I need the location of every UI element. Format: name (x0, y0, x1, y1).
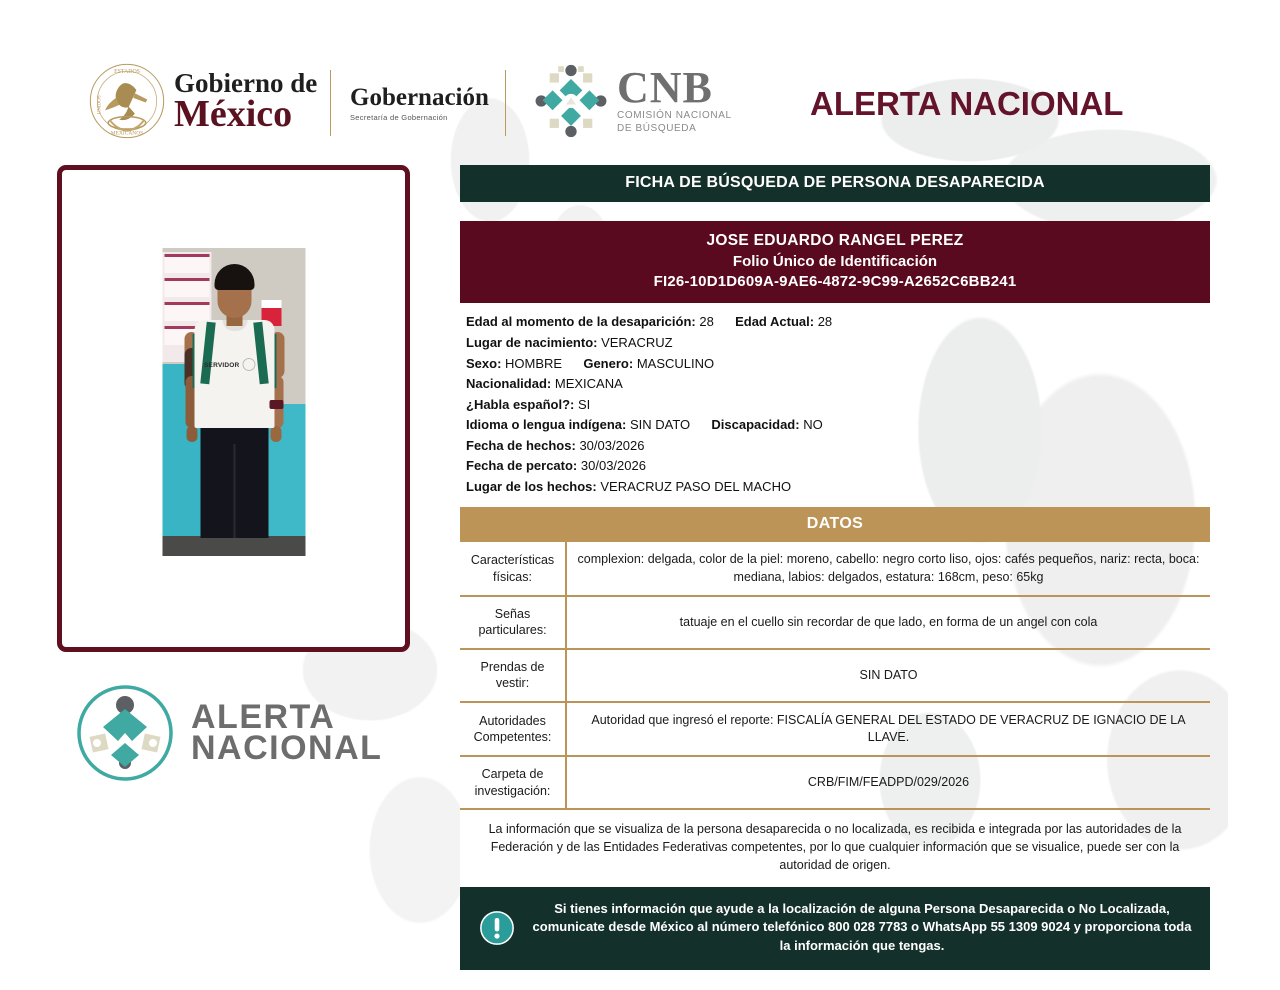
folio-value: FI26-10D1D609A-9AE6-4872-9C99-A2652C6BB2… (460, 272, 1210, 292)
detail-row-habla-espanol: ¿Habla español?: SI (466, 395, 1206, 416)
alerta-nacional-logo: ALERTA NACIONAL (75, 683, 382, 783)
datos-key: Características físicas: (460, 542, 566, 596)
nacionalidad-value: MEXICANA (555, 376, 623, 391)
svg-text:UNIDOS: UNIDOS (96, 95, 102, 114)
svg-text:ESTADOS: ESTADOS (114, 69, 140, 75)
fecha-percato-label: Fecha de percato: (466, 458, 577, 473)
sexo-label: Sexo: (466, 356, 501, 371)
gobernacion-logo: Gobernación Secretaría de Gobernación (350, 84, 489, 122)
edad-desaparicion-value: 28 (699, 314, 713, 329)
page-header: ESTADOS MEXICANOS UNIDOS Gobierno de Méx… (0, 0, 1280, 160)
genero-label: Genero: (583, 356, 633, 371)
table-row: Señas particulares: tatuaje en el cuello… (460, 596, 1210, 649)
disclaimer-text: La información que se visualiza de la pe… (460, 810, 1210, 886)
detail-row-lugar-nacimiento: Lugar de nacimiento: VERACRUZ (466, 333, 1206, 354)
detail-row-nacionalidad: Nacionalidad: MEXICANA (466, 374, 1206, 395)
gobierno-de-mexico-logo: ESTADOS MEXICANOS UNIDOS Gobierno de Méx… (88, 62, 317, 140)
habla-espanol-value: SI (578, 397, 590, 412)
datos-value: complexion: delgada, color de la piel: m… (566, 542, 1210, 596)
edad-actual-label: Edad Actual: (735, 314, 814, 329)
gobernacion-title: Gobernación (350, 84, 489, 112)
edad-actual-value: 28 (818, 314, 832, 329)
discapacidad-label: Discapacidad: (711, 417, 799, 432)
cnb-subtitle-line2: DE BÚSQUEDA (617, 123, 732, 136)
datos-value: tatuaje en el cuello sin recordar de que… (566, 596, 1210, 649)
datos-key: Carpeta de investigación: (460, 756, 566, 809)
datos-section-header: DATOS (460, 507, 1210, 542)
alerta-logo-word2: NACIONAL (191, 733, 382, 764)
genero-value: MASCULINO (637, 356, 714, 371)
exclamation-icon (478, 909, 516, 947)
lugar-nacimiento-label: Lugar de nacimiento: (466, 335, 597, 350)
fecha-percato-value: 30/03/2026 (581, 458, 646, 473)
contact-banner: Si tienes información que ayude a la loc… (460, 887, 1210, 971)
datos-value: SIN DATO (566, 649, 1210, 702)
ficha-title-bar: FICHA DE BÚSQUEDA DE PERSONA DESAPARECID… (460, 165, 1210, 202)
photo-frame: SERVIDOR (57, 165, 410, 652)
contact-message: Si tienes información que ayude a la loc… (532, 900, 1192, 957)
gobierno-line2: México (174, 95, 317, 133)
missing-person-photo: SERVIDOR (162, 248, 305, 556)
datos-key: Prendas de vestir: (460, 649, 566, 702)
folio-label: Folio Único de Identificación (460, 252, 1210, 272)
alert-content-panel: FICHA DE BÚSQUEDA DE PERSONA DESAPARECID… (460, 165, 1210, 970)
discapacidad-value: NO (803, 417, 823, 432)
person-identity-banner: JOSE EDUARDO RANGEL PEREZ Folio Único de… (460, 221, 1210, 303)
detail-row-idioma-discapacidad: Idioma o lengua indígena: SIN DATO Disca… (466, 415, 1206, 436)
person-name: JOSE EDUARDO RANGEL PEREZ (460, 231, 1210, 252)
alerta-nacional-emblem-icon (75, 683, 175, 783)
datos-value: CRB/FIM/FEADPD/029/2026 (566, 756, 1210, 809)
sexo-value: HOMBRE (505, 356, 562, 371)
detail-row-sexo-genero: Sexo: HOMBRE Genero: MASCULINO (466, 354, 1206, 375)
person-details-list: Edad al momento de la desaparición: 28 E… (460, 303, 1210, 497)
idioma-label: Idioma o lengua indígena: (466, 417, 626, 432)
detail-row-fecha-percato: Fecha de percato: 30/03/2026 (466, 456, 1206, 477)
cnb-acronym: CNB (617, 67, 732, 109)
lugar-hechos-value: VERACRUZ PASO DEL MACHO (600, 479, 791, 494)
cnb-logo: CNB COMISIÓN NACIONAL DE BÚSQUEDA (535, 62, 732, 140)
detail-row-edad: Edad al momento de la desaparición: 28 E… (466, 312, 1206, 333)
datos-key: Señas particulares: (460, 596, 566, 649)
header-divider-2 (505, 70, 506, 136)
cnb-subtitle-line1: COMISIÓN NACIONAL (617, 110, 732, 123)
idioma-value: SIN DATO (630, 417, 690, 432)
alerta-nacional-heading: ALERTA NACIONAL (810, 85, 1123, 123)
lugar-nacimiento-value: VERACRUZ (601, 335, 673, 350)
table-row: Prendas de vestir: SIN DATO (460, 649, 1210, 702)
lugar-hechos-label: Lugar de los hechos: (466, 479, 597, 494)
datos-table: Características físicas: complexion: del… (460, 542, 1210, 810)
table-row: Características físicas: complexion: del… (460, 542, 1210, 596)
alert-page: ESTADOS MEXICANOS UNIDOS Gobierno de Méx… (0, 0, 1280, 990)
table-row: Carpeta de investigación: CRB/FIM/FEADPD… (460, 756, 1210, 809)
shirt-text: SERVIDOR (204, 362, 239, 369)
fecha-hechos-value: 30/03/2026 (579, 438, 644, 453)
nacionalidad-label: Nacionalidad: (466, 376, 551, 391)
detail-row-fecha-hechos: Fecha de hechos: 30/03/2026 (466, 436, 1206, 457)
eagle-watermark-bottom-left (40, 600, 460, 990)
edad-desaparicion-label: Edad al momento de la desaparición: (466, 314, 696, 329)
mexico-coat-of-arms-icon: ESTADOS MEXICANOS UNIDOS (88, 62, 166, 140)
datos-value: Autoridad que ingresó el reporte: FISCAL… (566, 702, 1210, 757)
habla-espanol-label: ¿Habla español?: (466, 397, 574, 412)
table-row: Autoridades Competentes: Autoridad que i… (460, 702, 1210, 757)
header-divider-1 (330, 70, 331, 136)
detail-row-lugar-hechos: Lugar de los hechos: VERACRUZ PASO DEL M… (466, 477, 1206, 498)
cnb-emblem-icon (535, 62, 607, 140)
datos-key: Autoridades Competentes: (460, 702, 566, 757)
gobernacion-subtitle: Secretaría de Gobernación (350, 113, 489, 122)
fecha-hechos-label: Fecha de hechos: (466, 438, 576, 453)
